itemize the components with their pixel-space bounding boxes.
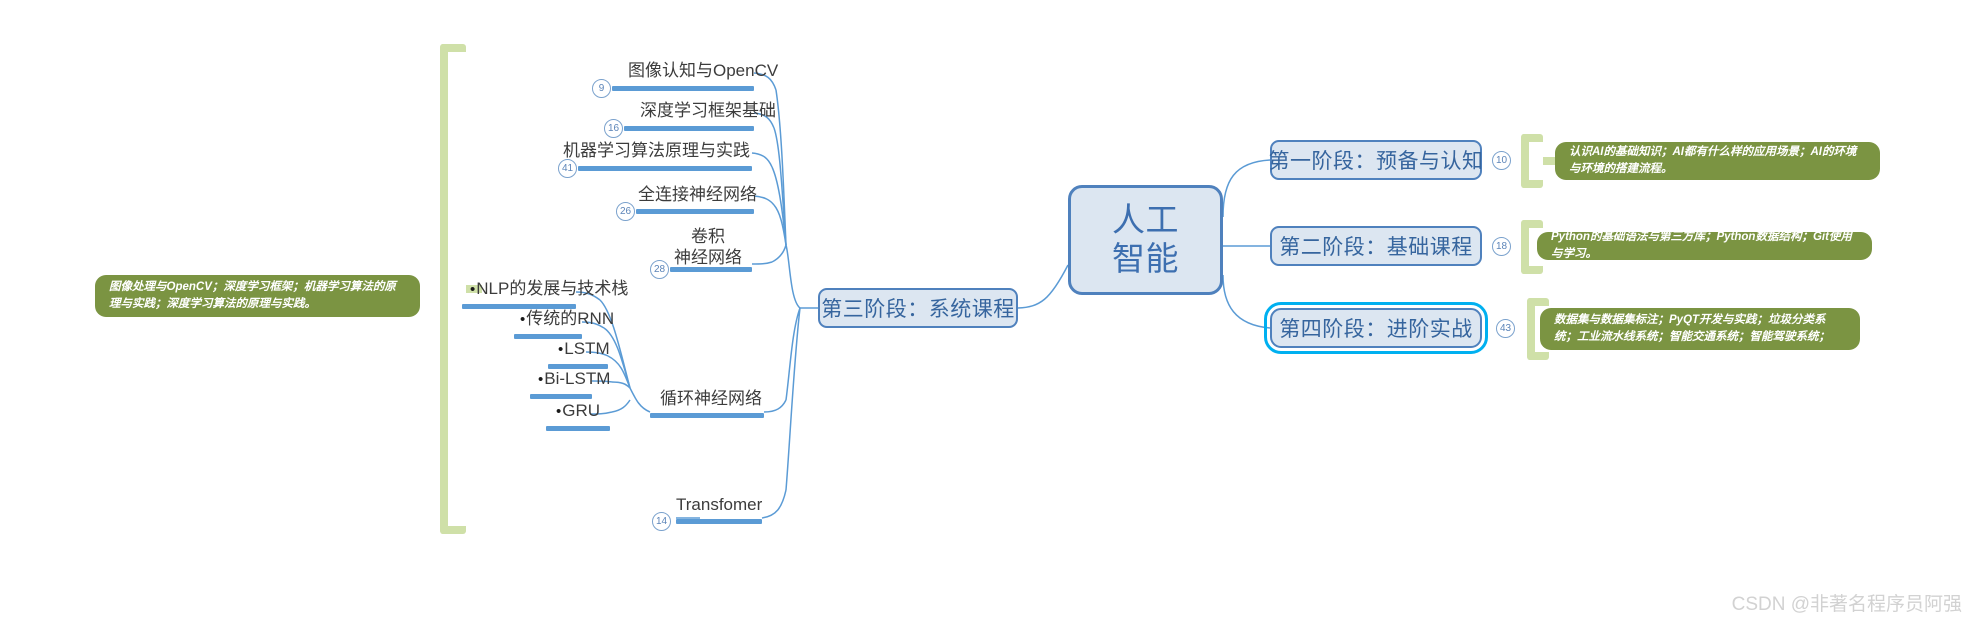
watermark: CSDN @非著名程序员阿强	[1732, 589, 1962, 616]
stage-node-2[interactable]: 第二阶段：基础课程	[1270, 226, 1482, 266]
topic-branch-line-1	[612, 86, 754, 91]
topic-branch-line-5	[670, 267, 752, 272]
topic-badge-7[interactable]: 14	[652, 512, 671, 531]
topic-label-3[interactable]: 机器学习算法原理与实践	[563, 140, 750, 161]
bracket-stage-1	[1521, 134, 1543, 188]
topic-branch-line-2	[624, 126, 754, 131]
stage-node-4-label: 第四阶段：进阶实战	[1279, 313, 1473, 343]
central-node[interactable]: 人工 智能	[1068, 185, 1223, 295]
topic-label-7[interactable]: Transfomer	[676, 494, 762, 515]
summary-box-stage-1-text: 认识AI的基础知识；AI都有什么样的应用场景；AI的环境与环境的搭建流程。	[1569, 144, 1866, 177]
central-node-line2: 智能	[1112, 240, 1179, 279]
mindmap-canvas: 人工 智能 第一阶段：预备与认知 10 第二阶段：基础课程 18 第四阶段：进阶…	[0, 0, 1988, 630]
rnn-child-branch-line-4	[530, 394, 592, 399]
summary-box-stage-4[interactable]: 数据集与数据集标注；PyQT开发与实践；垃圾分类系统；工业流水线系统；智能交通系…	[1540, 308, 1860, 350]
topic-badge-2[interactable]: 16	[604, 119, 623, 138]
stage-node-1[interactable]: 第一阶段：预备与认知	[1270, 140, 1482, 180]
rnn-child-label-3[interactable]: LSTM	[558, 338, 610, 360]
rnn-child-label-4[interactable]: Bi-LSTM	[538, 368, 610, 390]
bracket-stage-3	[440, 44, 466, 534]
summary-box-stage-3[interactable]: 图像处理与OpenCV；深度学习框架；机器学习算法的原理与实践；深度学习算法的原…	[95, 275, 420, 317]
central-node-line1: 人工	[1112, 201, 1179, 240]
stage-node-3[interactable]: 第三阶段：系统课程	[818, 288, 1018, 328]
rnn-child-label-2[interactable]: 传统的RNN	[520, 308, 614, 330]
topic-label-5-line1: 卷积	[660, 226, 756, 247]
stage-node-2-label: 第二阶段：基础课程	[1279, 231, 1473, 261]
topic-label-1[interactable]: 图像认知与OpenCV	[628, 60, 778, 81]
topic-label-5[interactable]: 卷积 神经网络	[660, 226, 756, 269]
topic-branch-line-7	[676, 519, 762, 524]
topic-label-6[interactable]: 循环神经网络	[660, 388, 762, 409]
summary-box-stage-4-text: 数据集与数据集标注；PyQT开发与实践；垃圾分类系统；工业流水线系统；智能交通系…	[1554, 312, 1846, 345]
topic-branch-line-6	[650, 413, 764, 418]
rnn-child-label-1[interactable]: NLP的发展与技术栈	[470, 278, 628, 300]
rnn-child-label-5[interactable]: GRU	[556, 400, 600, 422]
stage-node-1-label: 第一阶段：预备与认知	[1269, 145, 1484, 175]
topic-branch-line-4	[636, 209, 754, 214]
stage-badge-2[interactable]: 18	[1492, 237, 1511, 256]
summary-box-stage-3-text: 图像处理与OpenCV；深度学习框架；机器学习算法的原理与实践；深度学习算法的原…	[109, 279, 406, 312]
stage-node-4[interactable]: 第四阶段：进阶实战	[1270, 308, 1482, 348]
summary-box-stage-2[interactable]: Python的基础语法与第三方库；Python数据结构；Git使用与学习。	[1537, 232, 1872, 260]
stage-badge-4[interactable]: 43	[1496, 319, 1515, 338]
stage-node-3-label: 第三阶段：系统课程	[821, 293, 1015, 323]
rnn-child-branch-line-5	[546, 426, 610, 431]
topic-label-2[interactable]: 深度学习框架基础	[640, 100, 776, 121]
topic-label-5-line2: 神经网络	[660, 247, 756, 268]
topic-badge-3[interactable]: 41	[558, 159, 577, 178]
topic-badge-5[interactable]: 28	[650, 260, 669, 279]
summary-box-stage-1[interactable]: 认识AI的基础知识；AI都有什么样的应用场景；AI的环境与环境的搭建流程。	[1555, 142, 1880, 180]
topic-label-4[interactable]: 全连接神经网络	[638, 184, 757, 205]
topic-badge-1[interactable]: 9	[592, 79, 611, 98]
topic-badge-4[interactable]: 26	[616, 202, 635, 221]
summary-box-stage-2-text: Python的基础语法与第三方库；Python数据结构；Git使用与学习。	[1551, 229, 1858, 262]
topic-branch-line-3	[578, 166, 752, 171]
stage-badge-1[interactable]: 10	[1492, 151, 1511, 170]
